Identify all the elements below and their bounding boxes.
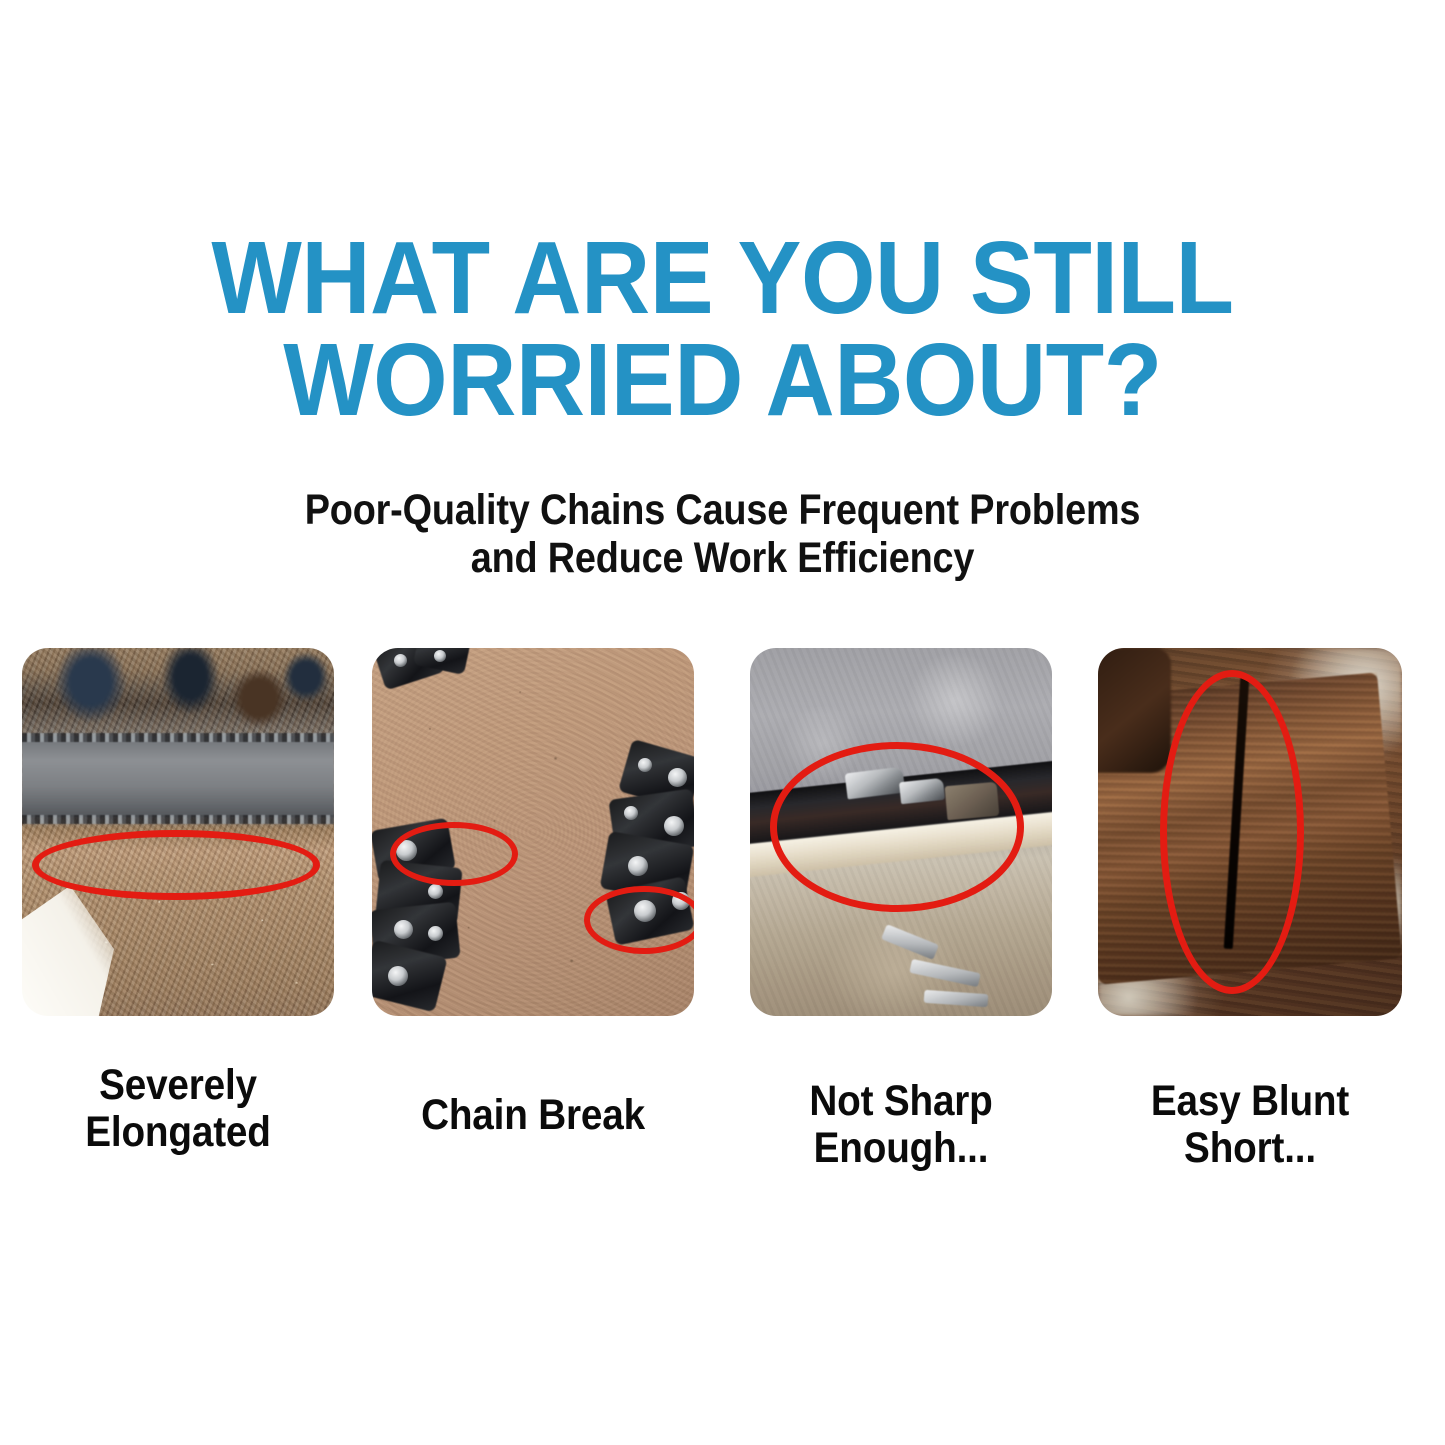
panel-chain-break: [372, 648, 694, 1016]
caption-line-1: Severely: [38, 1062, 319, 1109]
metal-chip: [909, 959, 980, 987]
cutting-tooth: [899, 778, 945, 804]
chain-rivet: [638, 758, 652, 772]
chain-rivet: [434, 650, 446, 662]
headline-line-2: WORRIED ABOUT?: [51, 329, 1395, 431]
chain-rivet: [388, 966, 408, 986]
metal-chip: [881, 924, 939, 960]
photo-severely-elongated: [22, 648, 334, 1016]
panel-easy-blunt-short: [1098, 648, 1402, 1016]
chain-rivet: [664, 816, 684, 836]
chain-teeth-lower: [22, 815, 334, 824]
caption-line-1: Easy Blunt: [1113, 1078, 1387, 1125]
caption-line-1: Chain Break: [388, 1092, 678, 1139]
page-subtitle: Poor-Quality Chains Cause Frequent Probl…: [87, 486, 1359, 582]
caption-chain-break: Chain Break: [388, 1092, 678, 1139]
subtitle-line-1: Poor-Quality Chains Cause Frequent Probl…: [87, 486, 1359, 534]
caption-easy-blunt-short: Easy Blunt Short...: [1113, 1078, 1387, 1173]
caption-line-2: Enough...: [765, 1125, 1037, 1172]
background-workers: [22, 648, 334, 744]
caption-line-2: Short...: [1113, 1125, 1387, 1172]
headline-line-1: WHAT ARE YOU STILL: [51, 227, 1395, 329]
subtitle-line-2: and Reduce Work Efficiency: [87, 534, 1359, 582]
worn-cutting-tooth: [945, 782, 1000, 820]
caption-not-sharp-enough: Not Sharp Enough...: [765, 1078, 1037, 1173]
infographic-page: WHAT ARE YOU STILL WORRIED ABOUT? Poor-Q…: [0, 0, 1445, 1445]
chain-rivet: [628, 856, 648, 876]
photo-not-sharp-enough: [750, 648, 1052, 1016]
caption-severely-elongated: Severely Elongated: [38, 1062, 319, 1157]
photo-easy-blunt-short: [1098, 648, 1402, 1016]
chain-rivet: [672, 892, 690, 910]
problem-panel-row: [0, 648, 1445, 1018]
photo-chain-break: [372, 648, 694, 1016]
caption-line-1: Not Sharp: [765, 1078, 1037, 1125]
chain-rivet: [396, 840, 417, 861]
chain-rivet: [394, 920, 413, 939]
bark-edge: [1098, 648, 1171, 773]
chain-rivet: [394, 654, 407, 667]
metal-chip: [924, 990, 989, 1007]
panel-not-sharp-enough: [750, 648, 1052, 1016]
white-cloth: [22, 847, 178, 1016]
page-title: WHAT ARE YOU STILL WORRIED ABOUT?: [51, 227, 1395, 431]
chain-rivet: [668, 768, 687, 787]
chain-teeth-upper: [22, 733, 334, 742]
chain-rivet: [624, 806, 638, 820]
chain-rivet: [428, 926, 443, 941]
chain-rivet: [428, 884, 443, 899]
chain-rivet: [634, 900, 656, 922]
chainsaw-guide-bar: [22, 736, 334, 817]
panel-severely-elongated: [22, 648, 334, 1016]
caption-line-2: Elongated: [38, 1109, 319, 1156]
